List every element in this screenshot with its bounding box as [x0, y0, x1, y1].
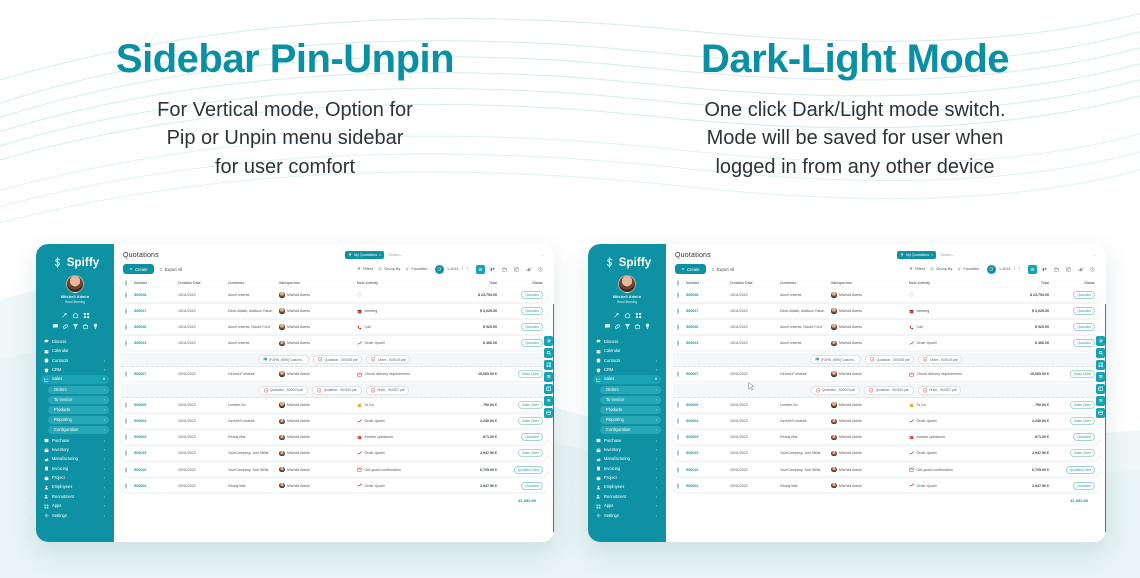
sidebar-item-manufacturing[interactable]: Manufacturing›: [41, 455, 109, 464]
pager-prev-button[interactable]: ‹: [1014, 267, 1016, 272]
side-rail[interactable]: [544, 336, 554, 418]
rail-button-search[interactable]: [1096, 348, 1106, 358]
calendar-view-button[interactable]: [1052, 265, 1061, 274]
attachment-chip[interactable]: [FURN_0096] Customi...: [810, 355, 861, 364]
apps-grid-icon[interactable]: [83, 312, 90, 319]
chevron-right-icon[interactable]: ›: [104, 368, 105, 372]
cell-status: Sales Order: [499, 370, 543, 378]
sidebar-item-configuration[interactable]: Configuration›: [600, 426, 661, 434]
chevron-right-icon[interactable]: ›: [656, 457, 657, 461]
table-row[interactable]: S0000715/11/2022Gemini FurnitureMitchell…: [673, 367, 1099, 381]
table-row[interactable]: S0002815/11/2022Azure InteriorMitchell A…: [121, 288, 547, 302]
sidebar-item-discuss[interactable]: Discuss: [41, 337, 109, 346]
pager-prev-button[interactable]: ‹: [462, 267, 464, 272]
graph-view-button[interactable]: [524, 265, 533, 274]
chevron-right-icon[interactable]: ›: [104, 359, 105, 363]
view-switcher[interactable]: [476, 265, 545, 274]
search-input[interactable]: Search...: [388, 253, 536, 257]
chevron-right-icon[interactable]: ›: [104, 476, 105, 480]
sidebar-item-apps[interactable]: Apps›: [41, 502, 109, 511]
chevron-right-icon[interactable]: ›: [104, 439, 105, 443]
attachment-chip[interactable]: Order - S00007.pdf: [918, 386, 962, 395]
sidebar-menu[interactable]: DiscussCalendarContacts›CRM›Sales▾Orders…: [41, 335, 109, 538]
column-header[interactable]: Salesperson: [279, 281, 355, 285]
sidebar-item-contacts[interactable]: Contacts›: [593, 356, 661, 365]
chevron-right-icon[interactable]: ›: [656, 448, 657, 452]
attachment-row[interactable]: [FURN_0096] Customi...Quotation - S00025…: [121, 353, 547, 368]
sidebar-item-calendar[interactable]: Calendar: [41, 347, 109, 356]
chevron-down-icon[interactable]: ▾: [655, 377, 657, 381]
select-all-checkbox[interactable]: [677, 281, 684, 285]
cell-next-activity[interactable]: Order Upsell: [357, 341, 449, 346]
chevron-right-icon[interactable]: ›: [656, 388, 657, 392]
attachment-chip[interactable]: Quotation - S00025.pdf: [865, 355, 914, 364]
sidebar-item-project[interactable]: Project›: [593, 473, 661, 482]
star-icon: [405, 267, 409, 271]
rail-button-settings-sliders[interactable]: [1096, 372, 1106, 382]
chevron-down-icon[interactable]: [1092, 253, 1097, 258]
graph-view-button[interactable]: [1076, 265, 1085, 274]
sidebar-item-label: Project: [52, 476, 101, 480]
cell-next-activity[interactable]: Order Upsell: [909, 419, 1001, 424]
sidebar-item-invoicing[interactable]: Invoicing›: [41, 464, 109, 473]
row-checkbox[interactable]: [125, 484, 132, 488]
search-area[interactable]: My Quotations × Search...: [345, 251, 545, 259]
wrench-icon[interactable]: [613, 312, 620, 319]
cell-next-activity[interactable]: Order Upsell: [357, 483, 449, 488]
cell-next-activity[interactable]: Order Upsell: [909, 341, 1001, 346]
cell-number[interactable]: S00026: [686, 325, 728, 329]
sidebar-item-to-invoice[interactable]: To Invoice›: [600, 396, 661, 404]
sidebar-item-manufacturing[interactable]: Manufacturing›: [593, 455, 661, 464]
row-checkbox[interactable]: [125, 293, 132, 297]
cell-number[interactable]: S00003: [134, 435, 176, 439]
sidebar-item-sales[interactable]: Sales▾: [593, 375, 661, 384]
table-row[interactable]: S0002815/11/2022Azure InteriorMitchell A…: [673, 288, 1099, 302]
filters-button[interactable]: Filters: [909, 267, 925, 271]
activity-view-button[interactable]: [536, 265, 545, 274]
row-checkbox[interactable]: [677, 325, 684, 329]
column-header[interactable]: Next Activity: [357, 281, 449, 285]
sidebar-item-purchase[interactable]: Purchase›: [593, 436, 661, 445]
cell-number[interactable]: S00006: [134, 403, 176, 407]
column-header[interactable]: Number: [686, 281, 728, 285]
column-header[interactable]: Next Activity: [909, 281, 1001, 285]
cell-next-activity[interactable]: Get quote confirmation: [357, 467, 449, 472]
chevron-right-icon[interactable]: ›: [104, 495, 105, 499]
table-row[interactable]: S0002715/11/2022Deco Addict, Addison Ols…: [121, 304, 547, 318]
rail-button-apps-grid[interactable]: [544, 360, 554, 370]
row-checkbox[interactable]: [125, 435, 132, 439]
chevron-right-icon[interactable]: ›: [656, 514, 657, 518]
rail-button-search[interactable]: [544, 348, 554, 358]
cell-next-activity[interactable]: Order Upsell: [909, 483, 1001, 488]
chevron-right-icon[interactable]: ›: [656, 486, 657, 490]
cell-next-activity[interactable]: [357, 292, 449, 297]
list-view-button[interactable]: [1028, 265, 1037, 274]
cell-next-activity[interactable]: Call: [909, 325, 1001, 330]
create-button[interactable]: Create: [123, 264, 154, 274]
chevron-right-icon[interactable]: ›: [104, 504, 105, 508]
attachment-chip[interactable]: [FURN_0096] Customi...: [258, 355, 309, 364]
sidebar-item-crm[interactable]: CRM›: [593, 365, 661, 374]
attachment-chip[interactable]: Quotation - S00010.pdf: [864, 386, 913, 395]
row-checkbox[interactable]: [125, 309, 132, 313]
kanban-view-button[interactable]: [1040, 265, 1049, 274]
app-sidebar[interactable]: Spiffy Mitchell Admin Good Morning Discu…: [36, 244, 114, 542]
cell-number[interactable]: S00002: [686, 484, 728, 488]
rail-button-layout[interactable]: [544, 384, 554, 394]
column-header[interactable]: Number: [134, 281, 176, 285]
chevron-right-icon[interactable]: ›: [656, 368, 657, 372]
row-checkbox[interactable]: [125, 341, 132, 345]
create-button[interactable]: Create: [675, 264, 706, 274]
table-row[interactable]: S0002615/11/2022Azure Interior, Nicole F…: [121, 320, 547, 334]
table-row[interactable]: S0001615/11/2022YourCompany, Joel Willis…: [121, 463, 547, 477]
chat-icon[interactable]: [52, 323, 59, 330]
table-body[interactable]: S0002815/11/2022Azure InteriorMitchell A…: [121, 288, 547, 492]
refresh-button[interactable]: [435, 265, 444, 274]
wrench-icon[interactable]: [61, 312, 68, 319]
chevron-right-icon[interactable]: ›: [104, 428, 105, 432]
table-row[interactable]: S0000215/11/2022Ready MatMitchell AdminO…: [673, 479, 1099, 493]
cell-number[interactable]: S00007: [686, 372, 728, 376]
view-switcher[interactable]: [1028, 265, 1097, 274]
cell-next-activity[interactable]: Answer questions: [357, 435, 449, 440]
close-icon[interactable]: ×: [379, 253, 381, 257]
filter-icon[interactable]: [624, 323, 631, 330]
row-checkbox[interactable]: [125, 468, 132, 472]
pager-next-button[interactable]: ›: [1018, 267, 1020, 272]
kanban-view-icon: [1042, 267, 1047, 272]
export-all-button[interactable]: Export All: [711, 267, 735, 272]
table-row[interactable]: S0000615/11/2022Lumber IncMitchell Admin…: [121, 398, 547, 412]
sidebar-item-products[interactable]: Products›: [48, 406, 109, 414]
filter-icon[interactable]: [72, 323, 79, 330]
favorites-button[interactable]: Favorites: [957, 267, 979, 271]
cell-number[interactable]: S00023: [134, 341, 176, 345]
sidebar-item-purchase[interactable]: Purchase›: [41, 436, 109, 445]
link-icon[interactable]: [62, 323, 69, 330]
export-all-button[interactable]: Export All: [159, 267, 183, 272]
rail-button-apps-grid[interactable]: [1096, 360, 1106, 370]
cell-number[interactable]: S00027: [134, 309, 176, 313]
pager[interactable]: 1-11/11 ‹ ›: [435, 265, 468, 274]
bag-icon[interactable]: [634, 323, 641, 330]
cell-next-activity[interactable]: Call: [357, 325, 449, 330]
table-row[interactable]: S0001915/11/2022YourCompany, Joel Willis…: [121, 447, 547, 461]
cell-next-activity[interactable]: Order Upsell: [909, 451, 1001, 456]
rail-button-gear[interactable]: [1096, 336, 1106, 346]
sidebar-item-inventory[interactable]: Inventory›: [593, 445, 661, 454]
chevron-right-icon[interactable]: ›: [656, 428, 657, 432]
chevron-right-icon[interactable]: ›: [656, 408, 657, 412]
cell-number[interactable]: S00016: [134, 468, 176, 472]
chevron-right-icon[interactable]: ›: [656, 359, 657, 363]
table-row[interactable]: S0002715/11/2022Deco Addict, Addison Ols…: [673, 304, 1099, 318]
pdf-file-icon: [318, 357, 323, 362]
sidebar-item-calendar[interactable]: Calendar: [593, 347, 661, 356]
sidebar-item-recruitment[interactable]: Recruitment›: [41, 492, 109, 501]
calendar-icon: [44, 349, 49, 354]
sidebar-item-settings[interactable]: Settings›: [593, 511, 661, 520]
bulb-icon[interactable]: [92, 323, 99, 330]
select-all-checkbox[interactable]: [125, 281, 132, 285]
rail-button-list[interactable]: [1096, 396, 1106, 406]
calendar-view-button[interactable]: [500, 265, 509, 274]
pager-next-button[interactable]: ›: [466, 267, 468, 272]
sidebar-item-apps[interactable]: Apps›: [593, 502, 661, 511]
table-row[interactable]: S0002315/11/2022Azure InteriorMitchell A…: [673, 336, 1099, 350]
cell-next-activity[interactable]: Get quote confirmation: [909, 467, 1001, 472]
cell-number[interactable]: S00002: [134, 484, 176, 488]
sidebar-item-project[interactable]: Project›: [41, 473, 109, 482]
column-header[interactable]: Status: [499, 281, 543, 285]
cell-next-activity[interactable]: Answer questions: [909, 435, 1001, 440]
table-row[interactable]: S0000215/11/2022Ready MatMitchell AdminO…: [121, 479, 547, 493]
chevron-right-icon[interactable]: ›: [104, 398, 105, 402]
cell-next-activity[interactable]: Order Upsell: [357, 451, 449, 456]
table-row[interactable]: S0000615/11/2022Lumber IncMitchell Admin…: [673, 398, 1099, 412]
column-header[interactable]: Total: [1003, 281, 1049, 285]
sidebar-item-contacts[interactable]: Contacts›: [41, 356, 109, 365]
sidebar-profile[interactable]: Mitchell Admin Good Morning: [593, 275, 661, 309]
sidebar-item-reporting[interactable]: Reporting›: [48, 416, 109, 424]
row-checkbox[interactable]: [677, 419, 684, 423]
chevron-right-icon[interactable]: ›: [656, 495, 657, 499]
table-body[interactable]: S0002815/11/2022Azure InteriorMitchell A…: [673, 288, 1099, 492]
favorites-button[interactable]: Favorites: [405, 267, 427, 271]
chevron-right-icon[interactable]: ›: [104, 467, 105, 471]
cell-number[interactable]: S00023: [686, 341, 728, 345]
cell-salesperson: Mitchell Admin: [279, 483, 355, 489]
kanban-view-button[interactable]: [488, 265, 497, 274]
table-row[interactable]: S0000415/11/2022Gemini FurnitureMitchell…: [673, 415, 1099, 429]
chevron-down-icon[interactable]: ▾: [103, 377, 105, 381]
app-mockup-left[interactable]: Spiffy Mitchell Admin Good Morning Discu…: [36, 244, 554, 542]
row-checkbox[interactable]: [677, 484, 684, 488]
row-checkbox[interactable]: [125, 325, 132, 329]
table-row[interactable]: S0002315/11/2022Azure InteriorMitchell A…: [121, 336, 547, 350]
sidebar-item-orders[interactable]: Orders›: [48, 386, 109, 394]
attachment-row[interactable]: Quotation - S00023.pdfQuotation - S00010…: [121, 384, 547, 399]
sidebar-item-employees[interactable]: Employees›: [41, 483, 109, 492]
cell-customer: YourCompany, Joel Willis: [780, 468, 829, 472]
chevron-right-icon[interactable]: ›: [656, 398, 657, 402]
cell-next-activity[interactable]: Check delivery requirements: [357, 372, 449, 377]
cell-number[interactable]: S00003: [686, 435, 728, 439]
close-icon[interactable]: ×: [931, 253, 933, 257]
attachment-row[interactable]: Quotation - S00023.pdfQuotation - S00010…: [673, 384, 1099, 399]
cell-next-activity[interactable]: Check delivery requirements: [909, 372, 1001, 377]
cell-number[interactable]: S00006: [686, 403, 728, 407]
rail-button-settings-sliders[interactable]: [544, 372, 554, 382]
cell-number[interactable]: S00019: [686, 451, 728, 455]
table-row[interactable]: S0000415/11/2022Gemini FurnitureMitchell…: [121, 415, 547, 429]
cell-salesperson: Mitchell Admin: [279, 467, 355, 473]
rail-button-card[interactable]: [544, 408, 554, 418]
column-header[interactable]: Creation Date: [178, 281, 226, 285]
table-row[interactable]: S0002615/11/2022Azure Interior, Nicole F…: [673, 320, 1099, 334]
sidebar-item-recruitment[interactable]: Recruitment›: [593, 492, 661, 501]
attachment-chip[interactable]: Quotation - S00023.pdf: [259, 386, 308, 395]
cell-number[interactable]: S00028: [134, 293, 176, 297]
chevron-right-icon[interactable]: ›: [656, 418, 657, 422]
cell-next-activity[interactable]: Order Upsell: [357, 419, 449, 424]
cell-number[interactable]: S00027: [686, 309, 728, 313]
row-checkbox[interactable]: [677, 341, 684, 345]
filter-icon: [909, 267, 913, 271]
row-checkbox[interactable]: [677, 435, 684, 439]
pager[interactable]: 1-11/11 ‹ ›: [987, 265, 1020, 274]
graph-view-icon: [1078, 267, 1083, 272]
cell-number[interactable]: S00004: [686, 419, 728, 423]
quick-icons-row-2[interactable]: [41, 320, 109, 335]
app-main: Quotations My Quotations × Search... Cre…: [666, 244, 1106, 542]
app-sidebar[interactable]: Spiffy Mitchell Admin Good Morning Discu…: [588, 244, 666, 542]
cell-next-activity[interactable]: Meeting: [357, 309, 449, 314]
apps-grid-icon[interactable]: [635, 312, 642, 319]
chevron-right-icon[interactable]: ›: [104, 457, 105, 461]
sidebar-item-crm[interactable]: CRM›: [41, 365, 109, 374]
sidebar-item-reporting[interactable]: Reporting›: [600, 416, 661, 424]
side-rail[interactable]: [1096, 336, 1106, 418]
row-checkbox[interactable]: [125, 419, 132, 423]
column-header[interactable]: Creation Date: [730, 281, 778, 285]
row-checkbox[interactable]: [677, 468, 684, 472]
home-icon[interactable]: [624, 312, 631, 319]
attachment-chip[interactable]: Order - S00007.pdf: [366, 386, 410, 395]
cell-next-activity-label: To Do: [917, 403, 926, 407]
cell-number[interactable]: S00016: [686, 468, 728, 472]
quick-icons-row-1[interactable]: [41, 309, 109, 320]
inventory-icon: [596, 448, 601, 453]
rail-button-card[interactable]: [1096, 408, 1106, 418]
search-facet[interactable]: My Quotations ×: [897, 251, 936, 259]
activity-view-button[interactable]: [1088, 265, 1097, 274]
table-row[interactable]: S0001915/11/2022YourCompany, Joel Willis…: [673, 447, 1099, 461]
column-header[interactable]: Total: [451, 281, 497, 285]
refresh-button[interactable]: [987, 265, 996, 274]
attachment-chip[interactable]: Quotation - S00023.pdf: [811, 386, 860, 395]
sidebar-item-employees[interactable]: Employees›: [593, 483, 661, 492]
calendar-view-icon: [502, 267, 507, 272]
cell-number[interactable]: S00019: [134, 451, 176, 455]
bag-icon[interactable]: [82, 323, 89, 330]
chevron-right-icon[interactable]: ›: [656, 439, 657, 443]
search-facet[interactable]: My Quotations ×: [345, 251, 384, 259]
pivot-view-button[interactable]: [512, 265, 521, 274]
chevron-right-icon[interactable]: ›: [104, 408, 105, 412]
sidebar-item-sales[interactable]: Sales▾: [41, 375, 109, 384]
pivot-view-button[interactable]: [1064, 265, 1073, 274]
attachment-row[interactable]: [FURN_0096] Customi...Quotation - S00025…: [673, 353, 1099, 368]
list-view-button[interactable]: [476, 265, 485, 274]
sidebar-menu[interactable]: DiscussCalendarContacts›CRM›Sales▾Orders…: [593, 335, 661, 538]
filters-button[interactable]: Filters: [357, 267, 373, 271]
rail-button-list[interactable]: [544, 396, 554, 406]
checkbox-icon: [677, 280, 679, 286]
chat-icon[interactable]: [604, 323, 611, 330]
rail-button-layout[interactable]: [1096, 384, 1106, 394]
attachment-chip[interactable]: Order - S00015.pdf: [366, 355, 410, 364]
search-area[interactable]: My Quotations × Search...: [897, 251, 1097, 259]
quick-icons-row-2[interactable]: [593, 320, 661, 335]
chevron-right-icon[interactable]: ›: [656, 467, 657, 471]
quotations-table[interactable]: NumberCreation DateCustomerSalespersonNe…: [666, 279, 1106, 542]
sidebar-item-orders[interactable]: Orders›: [600, 386, 661, 394]
cell-number[interactable]: S00028: [686, 293, 728, 297]
cell-salesperson: Mitchell Admin: [831, 402, 907, 408]
column-header[interactable]: Customer: [780, 281, 829, 285]
row-checkbox[interactable]: [677, 293, 684, 297]
spiral-s-logo-icon: [51, 256, 64, 269]
table-row[interactable]: S0000715/11/2022Gemini FurnitureMitchell…: [121, 367, 547, 381]
cell-next-activity[interactable]: To Do: [357, 403, 449, 408]
groupby-button[interactable]: Group By: [378, 267, 400, 271]
quotations-table[interactable]: NumberCreation DateCustomerSalespersonNe…: [114, 279, 554, 542]
column-header[interactable]: Customer: [228, 281, 277, 285]
chevron-right-icon[interactable]: ›: [104, 448, 105, 452]
bulb-icon[interactable]: [644, 323, 651, 330]
sidebar-item-inventory[interactable]: Inventory›: [41, 445, 109, 454]
cell-next-activity[interactable]: [909, 292, 1001, 297]
chevron-right-icon[interactable]: ›: [104, 514, 105, 518]
home-icon[interactable]: [72, 312, 79, 319]
attachment-chip[interactable]: Quotation - S00010.pdf: [312, 386, 361, 395]
attachment-chip[interactable]: Order - S00015.pdf: [918, 355, 962, 364]
app-mockup-right[interactable]: Spiffy Mitchell Admin Good Morning Discu…: [588, 244, 1106, 542]
row-checkbox[interactable]: [677, 309, 684, 313]
chevron-right-icon[interactable]: ›: [104, 486, 105, 490]
sidebar-item-products[interactable]: Products›: [600, 406, 661, 414]
row-checkbox[interactable]: [677, 372, 684, 376]
sidebar-item-configuration[interactable]: Configuration›: [48, 426, 109, 434]
row-checkbox[interactable]: [125, 403, 132, 407]
table-row[interactable]: S0000315/11/2022Ready MatMitchell AdminA…: [121, 431, 547, 445]
row-checkbox[interactable]: [125, 372, 132, 376]
sidebar-profile[interactable]: Mitchell Admin Good Morning: [41, 275, 109, 309]
row-checkbox[interactable]: [677, 403, 684, 407]
column-header[interactable]: Status: [1051, 281, 1095, 285]
cell-number[interactable]: S00004: [134, 419, 176, 423]
attachment-chip[interactable]: Quotation - S00025.pdf: [313, 355, 362, 364]
cell-number[interactable]: S00007: [134, 372, 176, 376]
chevron-right-icon[interactable]: ›: [656, 476, 657, 480]
cell-next-activity[interactable]: To Do: [909, 403, 1001, 408]
cell-number[interactable]: S00026: [134, 325, 176, 329]
quick-icons-row-1[interactable]: [593, 309, 661, 320]
chevron-down-icon[interactable]: [540, 253, 545, 258]
sidebar-item-to-invoice[interactable]: To Invoice›: [48, 396, 109, 404]
chevron-right-icon[interactable]: ›: [656, 504, 657, 508]
chevron-right-icon[interactable]: ›: [104, 388, 105, 392]
sidebar-item-discuss[interactable]: Discuss: [593, 337, 661, 346]
column-header[interactable]: Salesperson: [831, 281, 907, 285]
groupby-button[interactable]: Group By: [930, 267, 952, 271]
row-checkbox[interactable]: [677, 451, 684, 455]
search-input[interactable]: Search...: [940, 253, 1088, 257]
link-icon[interactable]: [614, 323, 621, 330]
table-row[interactable]: S0000315/11/2022Ready MatMitchell AdminA…: [673, 431, 1099, 445]
rail-button-gear[interactable]: [544, 336, 554, 346]
table-row[interactable]: S0001615/11/2022YourCompany, Joel Willis…: [673, 463, 1099, 477]
cell-next-activity[interactable]: Meeting: [909, 309, 1001, 314]
sidebar-item-settings[interactable]: Settings›: [41, 511, 109, 520]
sidebar-item-invoicing[interactable]: Invoicing›: [593, 464, 661, 473]
chevron-right-icon[interactable]: ›: [104, 418, 105, 422]
row-checkbox[interactable]: [125, 451, 132, 455]
